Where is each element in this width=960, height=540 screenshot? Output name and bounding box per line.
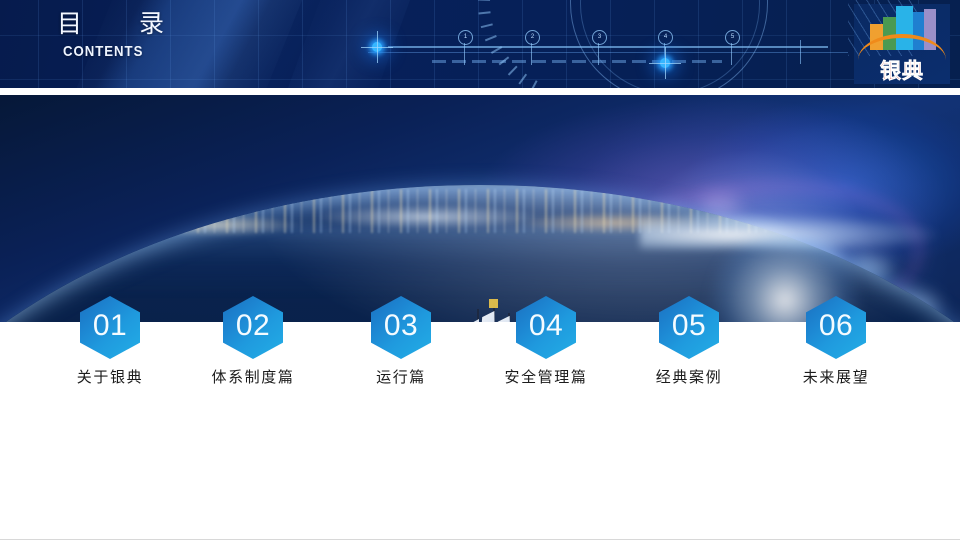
hex-number-05: 05 (672, 311, 706, 344)
contents-label-03: 运行篇 (336, 368, 466, 387)
title-chinese: 目 录 (57, 9, 180, 38)
hex-badge-02[interactable]: 02 (223, 296, 283, 359)
contents-item-03[interactable]: 03 运行篇 (336, 296, 466, 387)
hex-number-03: 03 (384, 311, 418, 344)
logo-text: 银典 (854, 60, 950, 82)
timeline-tick-right (800, 40, 801, 64)
slide-root: 目 录 CONTENTS 1 2 3 4 5 (0, 0, 960, 540)
hex-number-01: 01 (93, 311, 127, 344)
header-bar: 目 录 CONTENTS 1 2 3 4 5 (0, 0, 960, 88)
contents-label-06: 未来展望 (771, 368, 901, 387)
hex-badge-03[interactable]: 03 (371, 296, 431, 359)
hex-number-06: 06 (819, 311, 853, 344)
timeline-stem-2 (531, 43, 532, 65)
contents-item-02[interactable]: 02 体系制度篇 (188, 296, 318, 387)
contents-label-04: 安全管理篇 (481, 368, 611, 387)
hero-image (0, 95, 960, 322)
contents-item-04[interactable]: 04 安全管理篇 (481, 296, 611, 387)
contents-label-01: 关于银典 (45, 368, 175, 387)
contents-label-05: 经典案例 (624, 368, 754, 387)
dial-tick-marks (552, 0, 780, 88)
hex-number-04: 04 (529, 311, 563, 344)
hex-number-02: 02 (236, 311, 270, 344)
hex-badge-05[interactable]: 05 (659, 296, 719, 359)
timeline-node-2: 2 (525, 30, 540, 45)
timeline-node-1: 1 (458, 30, 473, 45)
contents-item-01[interactable]: 01 关于银典 (45, 296, 175, 387)
timeline-stem-1 (464, 43, 465, 65)
contents-label-02: 体系制度篇 (188, 368, 318, 387)
contents-item-06[interactable]: 06 未来展望 (771, 296, 901, 387)
page-title: 目 录 CONTENTS (57, 9, 180, 61)
title-english: CONTENTS (63, 42, 166, 61)
company-logo[interactable]: 银典 (854, 4, 950, 84)
header-timeline-graphic: 1 2 3 4 5 (360, 0, 860, 88)
hex-badge-04[interactable]: 04 (516, 296, 576, 359)
contents-item-05[interactable]: 05 经典案例 (624, 296, 754, 387)
hex-badge-01[interactable]: 01 (80, 296, 140, 359)
hex-badge-06[interactable]: 06 (806, 296, 866, 359)
timeline-glow-dot-left (372, 42, 382, 52)
contents-nav: 01 关于银典 02 体系制度篇 03 运行篇 04 安全管理篇 05 (0, 296, 960, 392)
